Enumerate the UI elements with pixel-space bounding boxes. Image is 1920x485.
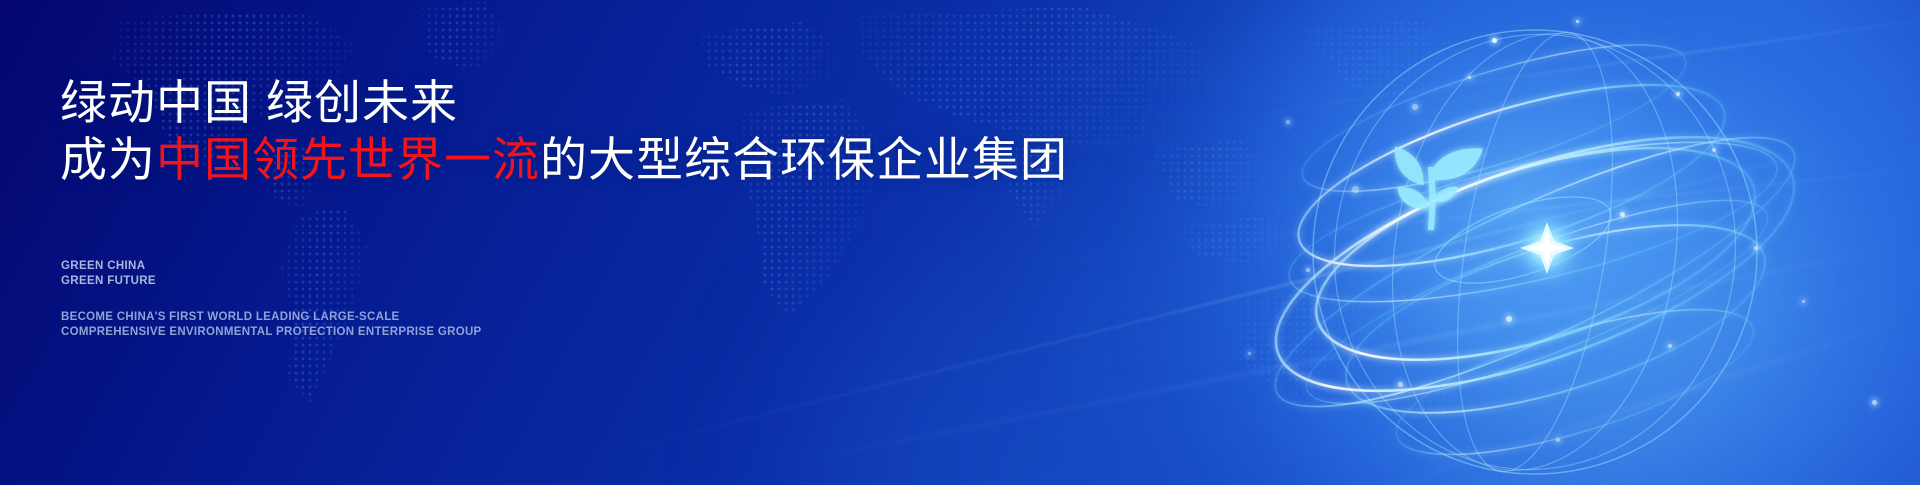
headline-prefix: 成为 <box>60 133 156 186</box>
glow-wash-right <box>1230 0 1920 485</box>
sparkle <box>1676 92 1680 96</box>
sparkle <box>1306 268 1310 272</box>
headline-line-1: 绿动中国 绿创未来 <box>60 79 458 126</box>
glow-wash-core <box>1380 120 1800 480</box>
subtitle-line-1: BECOME CHINA'S FIRST WORLD LEADING LARGE… <box>61 310 482 325</box>
sparkle <box>1872 400 1877 405</box>
tagline-line-2: GREEN FUTURE <box>61 274 156 289</box>
banner-copy: 绿动中国 绿创未来 成为中国领先世界一流的大型综合环保企业集团 GREEN CH… <box>58 0 1058 485</box>
light-beam <box>983 164 1920 268</box>
sparkle <box>1468 76 1471 79</box>
light-beam <box>1198 313 1920 485</box>
sparkle <box>1576 20 1579 23</box>
sparkle <box>1754 246 1758 250</box>
tagline-english: GREEN CHINA GREEN FUTURE <box>61 259 156 289</box>
tagline-line-1: GREEN CHINA <box>61 259 156 274</box>
sparkle <box>1352 186 1359 193</box>
sparkle <box>1492 38 1497 43</box>
wireframe-globe <box>1255 0 1815 485</box>
headline-line-1-text: 绿动中国 绿创未来 <box>60 76 458 129</box>
sparkle <box>1506 316 1512 322</box>
subtitle-english: BECOME CHINA'S FIRST WORLD LEADING LARGE… <box>61 310 482 340</box>
sparkle <box>1286 120 1290 124</box>
headline-suffix: 的大型综合环保企业集团 <box>540 133 1068 186</box>
sparkle <box>1620 212 1625 217</box>
sparkle <box>1412 104 1418 110</box>
sparkle <box>1248 352 1251 355</box>
subtitle-line-2: COMPREHENSIVE ENVIRONMENTAL PROTECTION E… <box>61 325 482 340</box>
sparkle <box>1802 300 1805 303</box>
sprout-leaf-icon <box>1395 146 1483 230</box>
hero-banner: 绿动中国 绿创未来 成为中国领先世界一流的大型综合环保企业集团 GREEN CH… <box>0 0 1920 485</box>
sparkle <box>1398 382 1403 387</box>
headline-highlight: 中国领先世界一流 <box>156 133 540 186</box>
sparkle <box>1712 148 1716 152</box>
light-beam <box>1154 13 1920 129</box>
sparkle <box>1668 344 1672 348</box>
headline-line-2: 成为中国领先世界一流的大型综合环保企业集团 <box>60 136 1068 183</box>
sparkle <box>1556 438 1560 442</box>
